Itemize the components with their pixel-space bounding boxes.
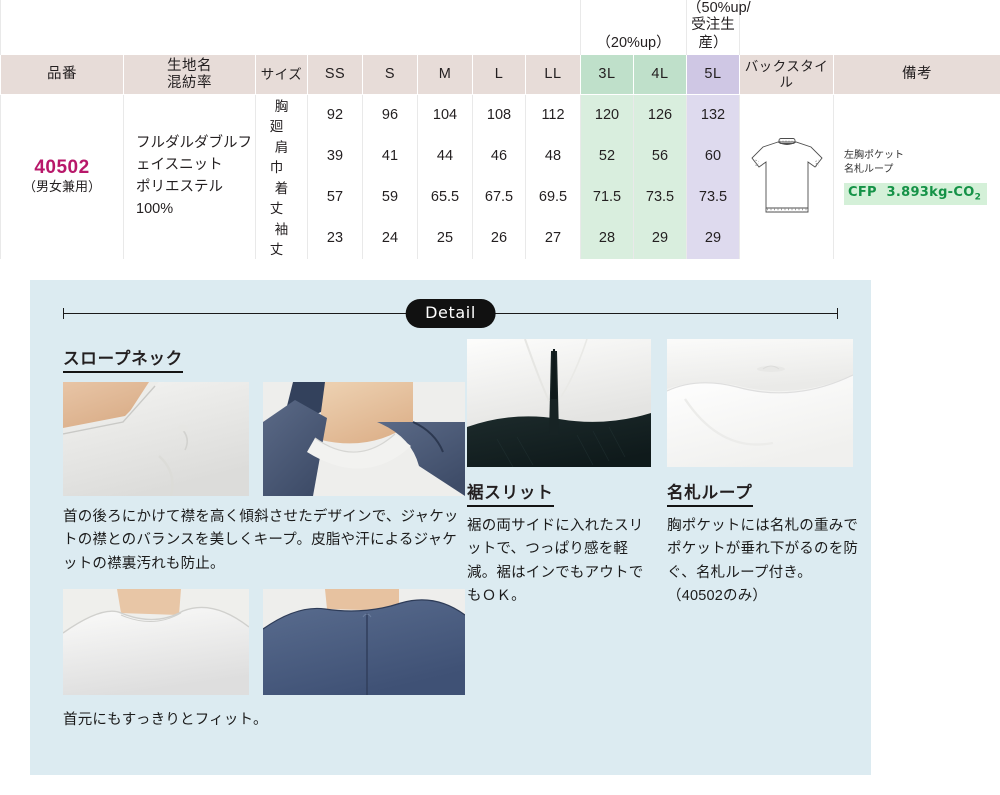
- cell-chest-5l: 132: [687, 95, 740, 136]
- photo-slope-neck-with-jacket: [263, 382, 465, 496]
- cfp-value: 3.893kg-CO: [887, 185, 975, 200]
- detail-body: スロープネック: [30, 329, 871, 345]
- slope-neck-text: 首の後ろにかけて襟を高く傾斜させたデザインで、ジャケットの襟とのバランスを美しく…: [63, 506, 467, 576]
- header-backstyle: バックスタイル: [740, 55, 834, 95]
- cell-chest-l: 108: [473, 95, 526, 136]
- cell-sleeve-s: 24: [363, 218, 418, 259]
- cell-chest-ll: 112: [526, 95, 581, 136]
- cell-length-l: 67.5: [473, 177, 526, 218]
- note-50-up-line1: （50%up/: [687, 0, 751, 16]
- catalog-page: （20%up） （50%up/ 受注生産） 品番 生地名 混紡率 サイズ SS …: [0, 0, 1000, 795]
- product-code-subtitle: （男女兼用）: [1, 179, 123, 195]
- photo-neck-back-navy-image: [263, 589, 465, 695]
- cell-length-ss: 57: [308, 177, 363, 218]
- cell-sleeve-ll: 27: [526, 218, 581, 259]
- photo-slope-neck-with-jacket-image: [263, 382, 465, 496]
- fabric-composition: ポリエステル100%: [136, 177, 255, 221]
- header-code: 品番: [1, 55, 124, 95]
- cfp-badge: CFP 3.893kg-CO2: [844, 183, 987, 206]
- detail-section-slope-neck: スロープネック: [63, 345, 467, 733]
- cell-length-3l: 71.5: [581, 177, 634, 218]
- remarks-cell: 左胸ポケット 名札ループ CFP 3.893kg-CO2: [834, 95, 1000, 259]
- header-size-l: L: [473, 55, 526, 95]
- cell-shoulder-4l: 56: [634, 136, 687, 177]
- header-fabric-line2: 混紡率: [167, 75, 212, 91]
- photo-name-tag-loop: [667, 339, 859, 467]
- banner-cap-right: [837, 308, 838, 319]
- banner-cap-left: [63, 308, 64, 319]
- cell-sleeve-4l: 29: [634, 218, 687, 259]
- cell-chest-3l: 120: [581, 95, 634, 136]
- measure-label-sleeve: 袖丈: [256, 218, 308, 259]
- cfp-label: CFP: [848, 185, 877, 200]
- product-code: 40502: [1, 158, 123, 179]
- detail-section-hem-slit: 裾スリット 裾の両サイドに入れたスリットで、つっぱり感を軽減。裾はインでもアウト…: [467, 339, 657, 609]
- cell-shoulder-ss: 39: [308, 136, 363, 177]
- hem-slit-title: 裾スリット: [467, 479, 554, 507]
- table-body: 40502 （男女兼用） フルダルダブルフェイスニット ポリエステル100% 胸…: [1, 95, 1000, 259]
- cell-length-5l: 73.5: [687, 177, 740, 218]
- cfp-subscript: 2: [975, 192, 982, 202]
- cell-chest-4l: 126: [634, 95, 687, 136]
- cell-length-m: 65.5: [418, 177, 473, 218]
- header-size-m: M: [418, 55, 473, 95]
- cell-chest-m: 104: [418, 95, 473, 136]
- preheader-spacer: [1, 0, 581, 55]
- preheader-spacer-right: [740, 0, 1000, 55]
- cell-chest-ss: 92: [308, 95, 363, 136]
- tshirt-back-illustration: [748, 134, 826, 220]
- cell-sleeve-5l: 29: [687, 218, 740, 259]
- backstyle-cell: [740, 95, 834, 259]
- detail-panel: Detail スロープネック: [30, 280, 871, 775]
- header-size-ll: LL: [526, 55, 581, 95]
- slope-neck-title: スロープネック: [63, 345, 183, 373]
- measure-label-chest: 胸廻: [256, 95, 308, 136]
- cell-length-s: 59: [363, 177, 418, 218]
- fabric-name: フルダルダブルフェイスニット: [136, 133, 255, 177]
- cell-shoulder-m: 44: [418, 136, 473, 177]
- slope-neck-caption: 首元にもすっきりとフィット。: [63, 709, 467, 732]
- hem-slit-text: 裾の両サイドに入れたスリットで、つっぱり感を軽減。裾はインでもアウトでもＯＫ。: [467, 515, 657, 609]
- photo-neck-back-navy: [263, 589, 465, 695]
- photo-neck-back-white-image: [63, 589, 249, 695]
- cell-shoulder-l: 46: [473, 136, 526, 177]
- photo-neck-back-white: [63, 589, 249, 695]
- product-code-cell: 40502 （男女兼用）: [1, 95, 124, 259]
- name-tag-loop-title: 名札ループ: [667, 479, 753, 507]
- remark-line-2: 名札ループ: [844, 163, 1000, 178]
- cell-sleeve-3l: 28: [581, 218, 634, 259]
- detail-section-name-tag-loop: 名札ループ 胸ポケットには名札の重みでポケットが垂れ下がるのを防ぐ、名札ループ付…: [667, 339, 859, 609]
- size-spec-table: （20%up） （50%up/ 受注生産） 品番 生地名 混紡率 サイズ SS …: [0, 0, 1000, 259]
- name-tag-loop-text: 胸ポケットには名札の重みでポケットが垂れ下がるのを防ぐ、名札ループ付き。（405…: [667, 515, 859, 609]
- table-row: 40502 （男女兼用） フルダルダブルフェイスニット ポリエステル100% 胸…: [1, 95, 1000, 136]
- header-size: サイズ: [256, 55, 308, 95]
- cell-shoulder-3l: 52: [581, 136, 634, 177]
- remark-line-1: 左胸ポケット: [844, 149, 1000, 164]
- note-20-up: （20%up）: [581, 0, 687, 55]
- table-header-row: 品番 生地名 混紡率 サイズ SS S M L LL 3L 4L 5L バックス…: [1, 55, 1000, 95]
- header-size-s: S: [363, 55, 418, 95]
- header-fabric-line1: 生地名: [167, 58, 212, 74]
- note-50-up-line2: 受注生産）: [691, 17, 735, 50]
- header-fabric: 生地名 混紡率: [124, 55, 256, 95]
- fabric-cell: フルダルダブルフェイスニット ポリエステル100%: [124, 95, 256, 259]
- header-size-5l: 5L: [687, 55, 740, 95]
- photo-hem-slit: [467, 339, 657, 467]
- table-preheader-row: （20%up） （50%up/ 受注生産）: [1, 0, 1000, 55]
- header-size-4l: 4L: [634, 55, 687, 95]
- header-remarks: 備考: [834, 55, 1000, 95]
- header-size-3l: 3L: [581, 55, 634, 95]
- cell-sleeve-l: 26: [473, 218, 526, 259]
- cell-shoulder-ll: 48: [526, 136, 581, 177]
- measure-label-shoulder: 肩巾: [256, 136, 308, 177]
- photo-hem-slit-image: [467, 339, 651, 467]
- note-50-up: （50%up/ 受注生産）: [687, 0, 740, 55]
- header-size-ss: SS: [308, 55, 363, 95]
- photo-slope-neck-front: [63, 382, 249, 496]
- cell-sleeve-ss: 23: [308, 218, 363, 259]
- cell-shoulder-s: 41: [363, 136, 418, 177]
- cell-length-ll: 69.5: [526, 177, 581, 218]
- slope-neck-photo-row-top: [63, 382, 467, 496]
- detail-banner-label: Detail: [405, 299, 496, 328]
- cell-shoulder-5l: 60: [687, 136, 740, 177]
- cell-chest-s: 96: [363, 95, 418, 136]
- cell-length-4l: 73.5: [634, 177, 687, 218]
- detail-banner: Detail: [63, 299, 838, 329]
- cell-sleeve-m: 25: [418, 218, 473, 259]
- photo-name-tag-loop-image: [667, 339, 853, 467]
- measure-label-length: 着丈: [256, 177, 308, 218]
- slope-neck-photo-row-bottom: [63, 589, 467, 695]
- photo-slope-neck-front-image: [63, 382, 249, 496]
